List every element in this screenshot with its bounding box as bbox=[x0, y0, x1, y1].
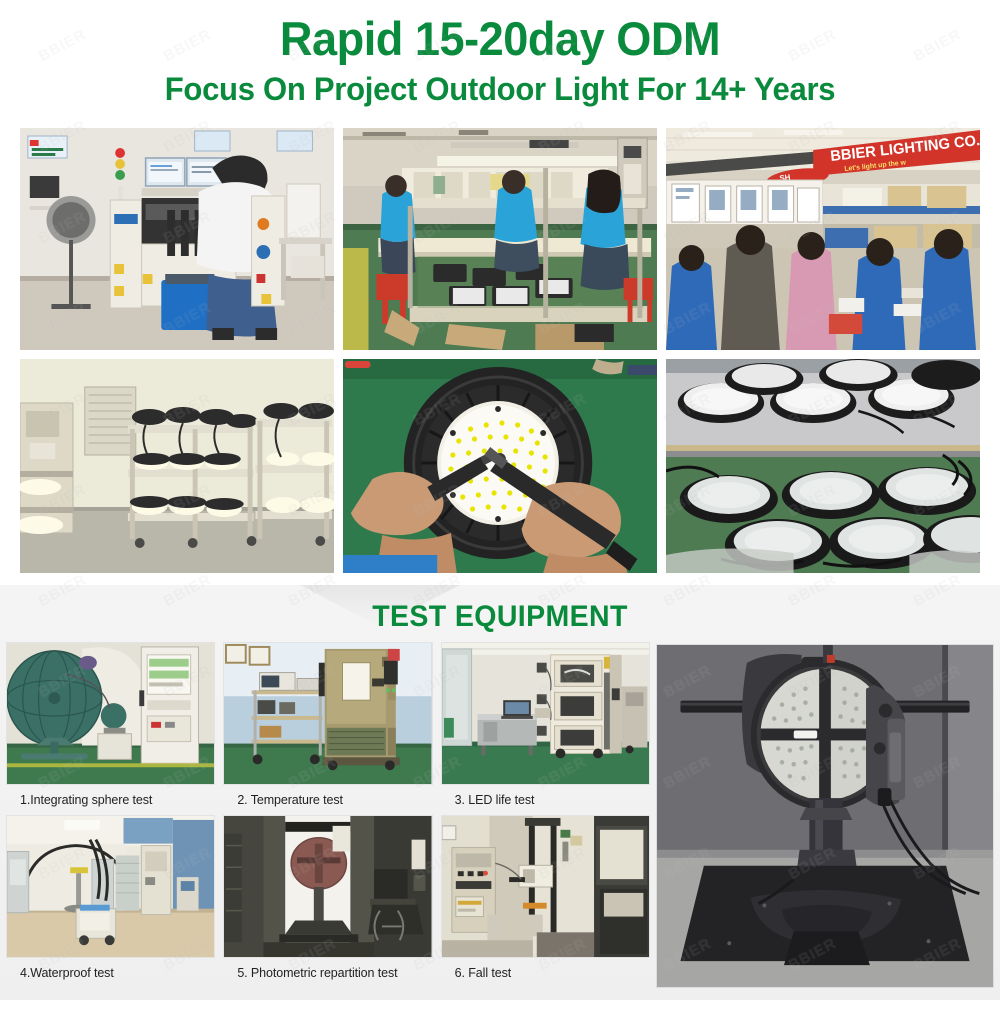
photo-led-pcb-soldering bbox=[343, 359, 657, 573]
test-caption: 4.Waterproof test bbox=[6, 958, 215, 988]
test-item-photometric-repartition-test: 5. Photometric repartition test bbox=[223, 815, 432, 988]
test-caption: 3. LED life test bbox=[441, 785, 650, 815]
photo-led-life-test bbox=[441, 642, 650, 785]
page-subtitle: Focus On Project Outdoor Light For 14+ Y… bbox=[15, 73, 985, 107]
photo-aging-test-racks bbox=[20, 359, 334, 573]
photo-integrating-sphere-test bbox=[6, 642, 215, 785]
photo-warehouse-bbier-banner: BBIER LIGHTING CO. Let's light up the w … bbox=[666, 128, 980, 350]
photo-assembly-line bbox=[343, 128, 657, 350]
photo-goniophotometer bbox=[656, 644, 994, 988]
test-equipment-section: TEST EQUIPMENT bbox=[0, 585, 1000, 1000]
test-caption: 5. Photometric repartition test bbox=[223, 958, 432, 988]
photo-ufo-highbay-burn-in bbox=[666, 359, 980, 573]
photo-fall-test bbox=[441, 815, 650, 958]
test-item-goniophotometer bbox=[656, 642, 994, 988]
factory-photo-grid: BBIER LIGHTING CO. Let's light up the w … bbox=[0, 128, 1000, 573]
test-item-integrating-sphere-test: 1.Integrating sphere test bbox=[6, 642, 215, 815]
photo-smt-machine-operator bbox=[20, 128, 334, 350]
test-equipment-title: TEST EQUIPMENT bbox=[25, 585, 975, 634]
test-item-waterproof-test: 4.Waterproof test bbox=[6, 815, 215, 988]
test-caption: 2. Temperature test bbox=[223, 785, 432, 815]
photo-photometric-repartition-test bbox=[223, 815, 432, 958]
test-item-temperature-test: 2. Temperature test bbox=[223, 642, 432, 815]
test-item-fall-test: 6. Fall test bbox=[441, 815, 650, 988]
test-item-led-life-test: 3. LED life test bbox=[441, 642, 650, 815]
test-caption: 6. Fall test bbox=[441, 958, 650, 988]
test-equipment-grid: 1.Integrating sphere test bbox=[6, 642, 650, 988]
page-title: Rapid 15-20day ODM bbox=[20, 14, 980, 64]
test-caption: 1.Integrating sphere test bbox=[6, 785, 215, 815]
header: Rapid 15-20day ODM Focus On Project Outd… bbox=[0, 0, 1000, 128]
photo-waterproof-test bbox=[6, 815, 215, 958]
photo-temperature-test bbox=[223, 642, 432, 785]
